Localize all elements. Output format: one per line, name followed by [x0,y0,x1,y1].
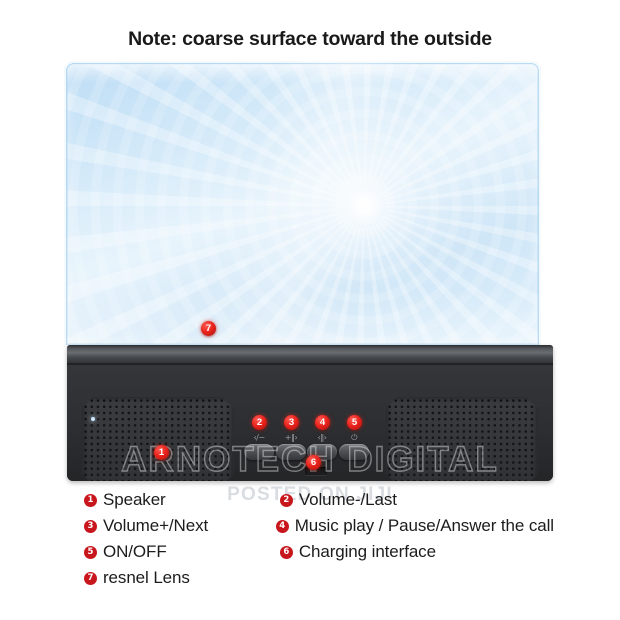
volume-down-icon: ‹/− [244,433,274,443]
power-button[interactable] [339,444,369,460]
page-title: Note: coarse surface toward the outside [0,28,620,51]
legend-list: 1 Speaker 2 Volume-/Last 3 Volume+/Next … [84,490,554,594]
legend-label: Charging interface [299,542,436,562]
legend-item-volume-up: 3 Volume+/Next [84,516,276,536]
legend-bullet-icon: 6 [280,546,293,559]
volume-up-icon: +‖› [276,433,306,443]
legend-row: 7 resnel Lens [84,568,554,594]
legend-bullet-icon: 3 [84,520,97,533]
legend-item-volume-down: 2 Volume-/Last [280,490,554,510]
callout-marker-5: 5 [347,415,362,430]
legend-item-fresnel-lens: 7 resnel Lens [84,568,280,588]
callout-marker-2: 2 [252,415,267,430]
play-pause-icon: ‹‖› [307,433,337,443]
legend-bullet-icon: 4 [276,520,289,533]
left-speaker-grille [82,397,234,481]
callout-marker-3: 3 [284,415,299,430]
body-top-rail [67,345,553,365]
volume-up-button[interactable] [276,444,306,460]
legend-bullet-icon: 1 [84,494,97,507]
legend-item-charging: 6 Charging interface [280,542,554,562]
legend-bullet-icon: 2 [280,494,293,507]
power-icon: ⏻ [339,433,369,443]
legend-label: Music play / Pause/Answer the call [295,516,554,536]
callout-marker-6: 6 [306,455,321,470]
legend-label: Volume-/Last [299,490,397,510]
callout-marker-1: 1 [154,445,169,460]
legend-item-speaker: 1 Speaker [84,490,280,510]
right-speaker-grille [386,397,538,481]
legend-row: 1 Speaker 2 Volume-/Last [84,490,554,516]
legend-label: ON/OFF [103,542,167,562]
status-led-icon [91,417,95,421]
legend-bullet-icon: 5 [84,546,97,559]
volume-down-button[interactable] [244,444,274,460]
legend-item-music-play: 4 Music play / Pause/Answer the call [276,516,554,536]
callout-marker-7: 7 [201,321,216,336]
fresnel-lens-panel [64,61,541,347]
legend-label: resnel Lens [103,568,190,588]
legend-label: Volume+/Next [103,516,208,536]
legend-row: 5 ON/OFF 6 Charging interface [84,542,554,568]
legend-item-on-off: 5 ON/OFF [84,542,280,562]
callout-marker-4: 4 [315,415,330,430]
legend-bullet-icon: 7 [84,572,97,585]
legend-label: Speaker [103,490,166,510]
legend-row: 3 Volume+/Next 4 Music play / Pause/Answ… [84,516,554,542]
